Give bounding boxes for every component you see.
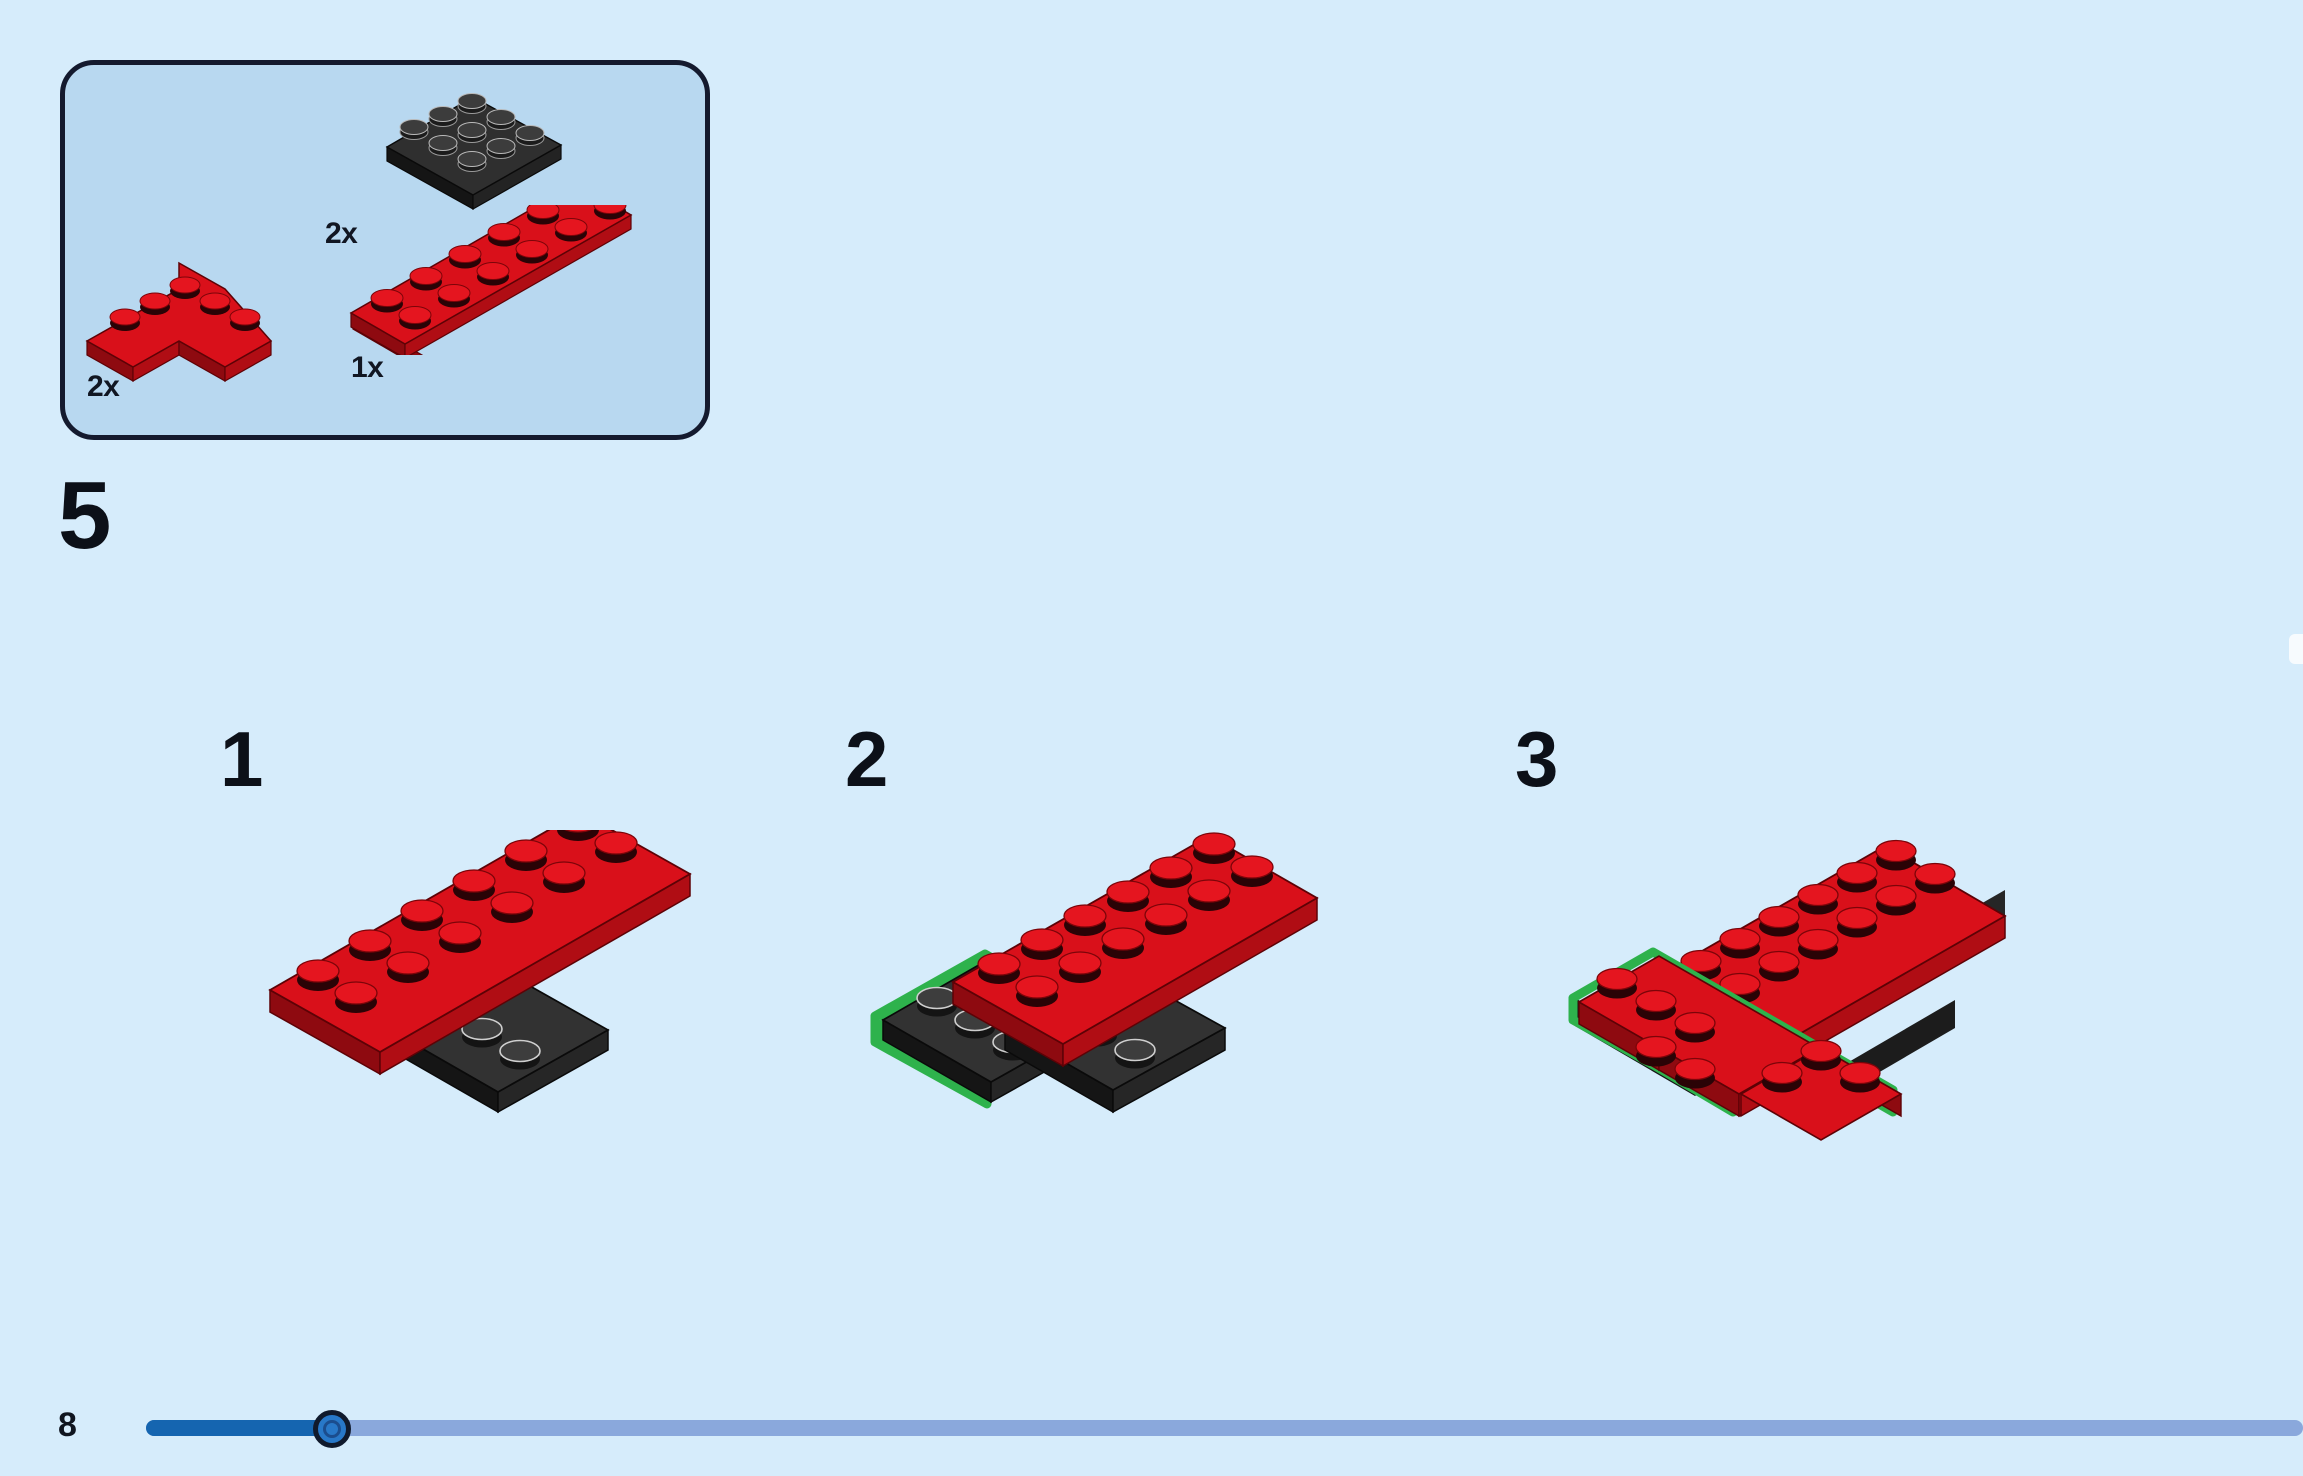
red-corner-plate-icon: [75, 245, 285, 385]
substep-3-model: [1535, 820, 2035, 1150]
part-quantity-red-plate: 1x: [351, 351, 383, 385]
substep-3-number: 3: [1515, 720, 1556, 798]
red-plate-2x6-icon: [343, 205, 643, 355]
progress-slider-thumb[interactable]: [313, 1410, 351, 1448]
part-red-corner-plate: 2x: [75, 245, 285, 390]
part-black-plate-3x3: 2x: [365, 85, 585, 220]
parts-callout-box: 2x 2x: [60, 60, 710, 440]
instruction-page: 2x 2x: [0, 0, 2303, 1476]
substep-1-model: [260, 830, 720, 1150]
black-plate-3x3-icon: [365, 85, 585, 215]
part-quantity-red-corner-plate: 2x: [87, 370, 119, 404]
progress-slider-fill: [146, 1420, 332, 1436]
edge-clipped-control[interactable]: [2289, 634, 2303, 664]
substep-1-assembly: [260, 830, 720, 1155]
substep-2-model: [865, 830, 1345, 1150]
progress-page-label: 8: [58, 1406, 77, 1445]
substep-2-assembly: [865, 830, 1345, 1155]
page-step-number: 5: [58, 468, 109, 564]
part-red-plate-2x6: 1x: [343, 205, 643, 360]
progress-bar: 8: [0, 1356, 2303, 1476]
progress-slider-track[interactable]: [146, 1420, 2303, 1436]
substep-1-number: 1: [220, 720, 261, 798]
substep-3-assembly: [1535, 820, 2035, 1155]
substep-2-number: 2: [845, 720, 886, 798]
